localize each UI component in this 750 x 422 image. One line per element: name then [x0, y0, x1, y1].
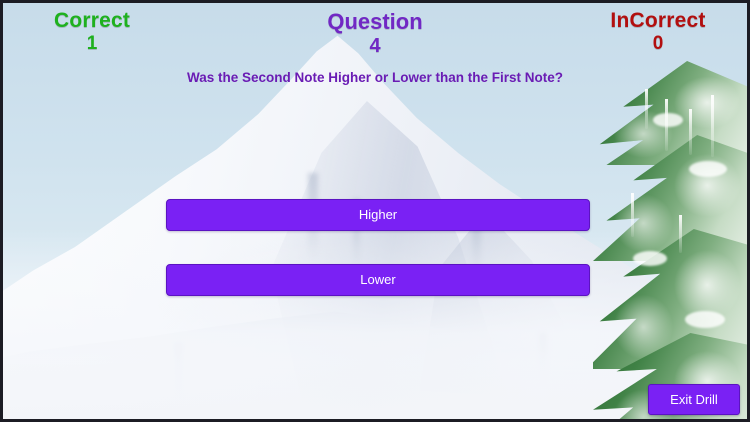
question-number: 4	[245, 35, 505, 58]
correct-count: 1	[17, 33, 167, 55]
icicle	[645, 89, 648, 129]
snow-clump	[633, 251, 667, 266]
incorrect-score: InCorrect 0	[583, 9, 733, 55]
snow-clump	[685, 311, 725, 328]
question-label: Question	[245, 9, 505, 35]
drill-screen: Correct 1 Question 4 InCorrect 0 Was the…	[0, 0, 750, 422]
incorrect-label: InCorrect	[583, 9, 733, 33]
question-header: Question 4	[245, 9, 505, 58]
correct-score: Correct 1	[17, 9, 167, 55]
correct-label: Correct	[17, 9, 167, 33]
question-prompt: Was the Second Note Higher or Lower than…	[173, 69, 577, 87]
icicle	[711, 95, 714, 157]
answer-list: Higher Lower	[166, 199, 590, 329]
exit-drill-button[interactable]: Exit Drill	[648, 384, 740, 415]
snow-clump	[653, 113, 683, 127]
answer-button-higher[interactable]: Higher	[166, 199, 590, 231]
snow-clump	[689, 161, 727, 177]
icicle	[631, 193, 634, 237]
incorrect-count: 0	[583, 33, 733, 55]
score-hud: Correct 1 Question 4 InCorrect 0	[3, 9, 747, 63]
fir-tree	[593, 65, 747, 419]
answer-button-lower[interactable]: Lower	[166, 264, 590, 296]
icicle	[689, 109, 692, 155]
icicle	[679, 215, 682, 253]
